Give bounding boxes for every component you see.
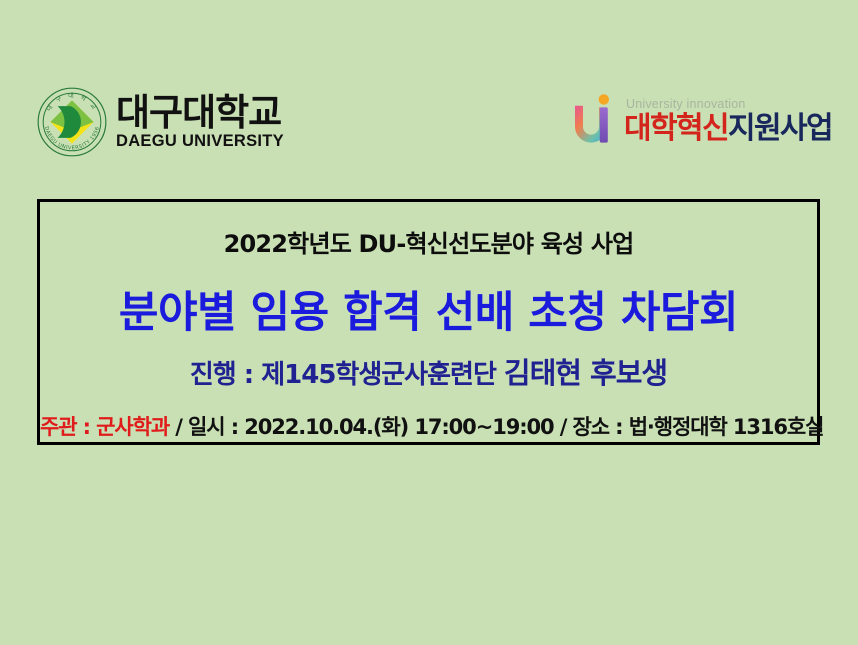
host-line: 진행 : 제145학생군사훈련단 김태현 후보생 — [40, 350, 817, 392]
host-prefix: 진행 : 제145학생군사훈련단 — [190, 360, 504, 390]
event-title: 분야별 임용 합격 선배 초청 차담회 — [40, 278, 817, 340]
ui-tagline-english: University innovation — [626, 98, 832, 112]
daegu-university-wordmark: 대구대학교 DAEGU UNIVERSITY — [116, 94, 284, 151]
ui-title-red-part: 대학혁신 — [624, 111, 728, 146]
host-name: 김태현 후보생 — [504, 356, 667, 390]
header-logo-row: 대 구 대 학 교 DAEGU UNIVERSITY 1956 대구대학교 DA… — [0, 0, 858, 199]
daegu-wordmark-korean: 대구대학교 — [116, 94, 284, 132]
university-innovation-logo: University innovation 대학혁신지원사업 — [570, 93, 832, 149]
notice-box: 2022학년도 DU-혁신선도분야 육성 사업 분야별 임용 합격 선배 초청 … — [37, 199, 820, 445]
daegu-university-logo: 대 구 대 학 교 DAEGU UNIVERSITY 1956 대구대학교 DA… — [36, 86, 284, 158]
event-datetime-location: / 일시 : 2022.10.04.(화) 17:00~19:00 / 장소 :… — [169, 415, 823, 439]
ui-monogram-icon — [570, 93, 620, 149]
ui-title-navy-part: 지원사업 — [728, 111, 832, 146]
daegu-university-seal-icon: 대 구 대 학 교 DAEGU UNIVERSITY 1956 — [36, 86, 108, 158]
ui-title-korean: 대학혁신지원사업 — [624, 113, 832, 144]
organizer-label: 주관 : 군사학과 — [40, 415, 169, 439]
daegu-wordmark-english: DAEGU UNIVERSITY — [116, 132, 284, 150]
program-subtitle: 2022학년도 DU-혁신선도분야 육성 사업 — [40, 224, 817, 259]
university-innovation-text: University innovation 대학혁신지원사업 — [624, 98, 832, 144]
event-details-line: 주관 : 군사학과 / 일시 : 2022.10.04.(화) 17:00~19… — [40, 411, 817, 441]
